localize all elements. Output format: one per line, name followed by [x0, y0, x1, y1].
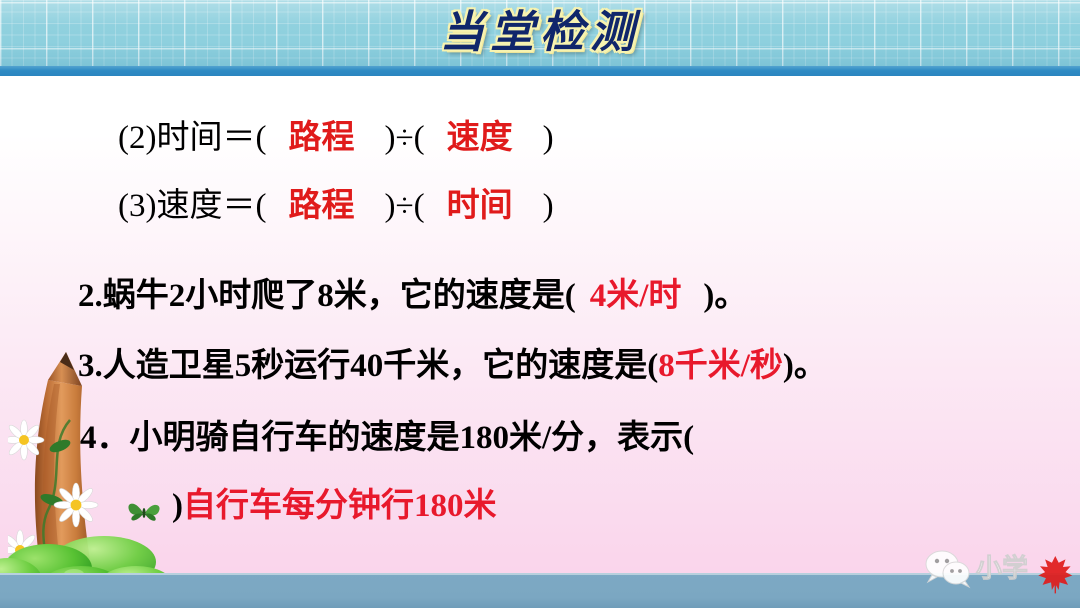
formula-3-blank-2: 时间 [447, 188, 513, 224]
formula-2-blank-2: 速度 [447, 120, 513, 156]
decoration-group [0, 330, 230, 608]
formula-2-label: (2)时间＝( [118, 120, 266, 156]
question-4-answer: 自行车每分钟行180米 [183, 488, 497, 524]
question-2-text: 2.蜗牛2小时爬了8米，它的速度是( [78, 278, 576, 314]
formula-line-2: (2)时间＝(路程)÷(速度) [118, 110, 554, 158]
header-divider-bar [0, 66, 1080, 76]
wechat-logo-icon [926, 551, 969, 587]
daisy-flower-icon [8, 420, 44, 460]
formula-3-label: (3)速度＝( [118, 188, 266, 224]
question-2-end: )。 [703, 278, 747, 314]
formula-2-middle: )÷( [384, 120, 424, 156]
formula-3-middle: )÷( [384, 188, 424, 224]
maple-leaf-icon [1038, 556, 1072, 593]
formula-2-end: ) [543, 120, 554, 156]
watermark: 小学 [918, 546, 1074, 596]
slide-canvas: 当堂检测 (2)时间＝(路程)÷(速度) (3)速度＝(路程)÷(时间) 2.蜗… [0, 0, 1080, 608]
question-2-answer: 4米/时 [590, 278, 682, 314]
formula-3-blank-1: 路程 [288, 188, 354, 224]
daisy-flower-icon [54, 483, 98, 527]
page-title: 当堂检测 [0, 4, 1080, 62]
question-line-2: 2.蜗牛2小时爬了8米，它的速度是(4米/时)。 [78, 268, 747, 316]
formula-3-end: ) [543, 188, 554, 224]
formula-line-3: (3)速度＝(路程)÷(时间) [118, 178, 554, 226]
watermark-label: 小学 [976, 553, 1028, 584]
question-3-end: )。 [783, 348, 827, 384]
butterfly-icon [124, 498, 164, 528]
question-3-answer: 8千米/秒 [658, 348, 783, 384]
formula-2-blank-1: 路程 [288, 120, 354, 156]
